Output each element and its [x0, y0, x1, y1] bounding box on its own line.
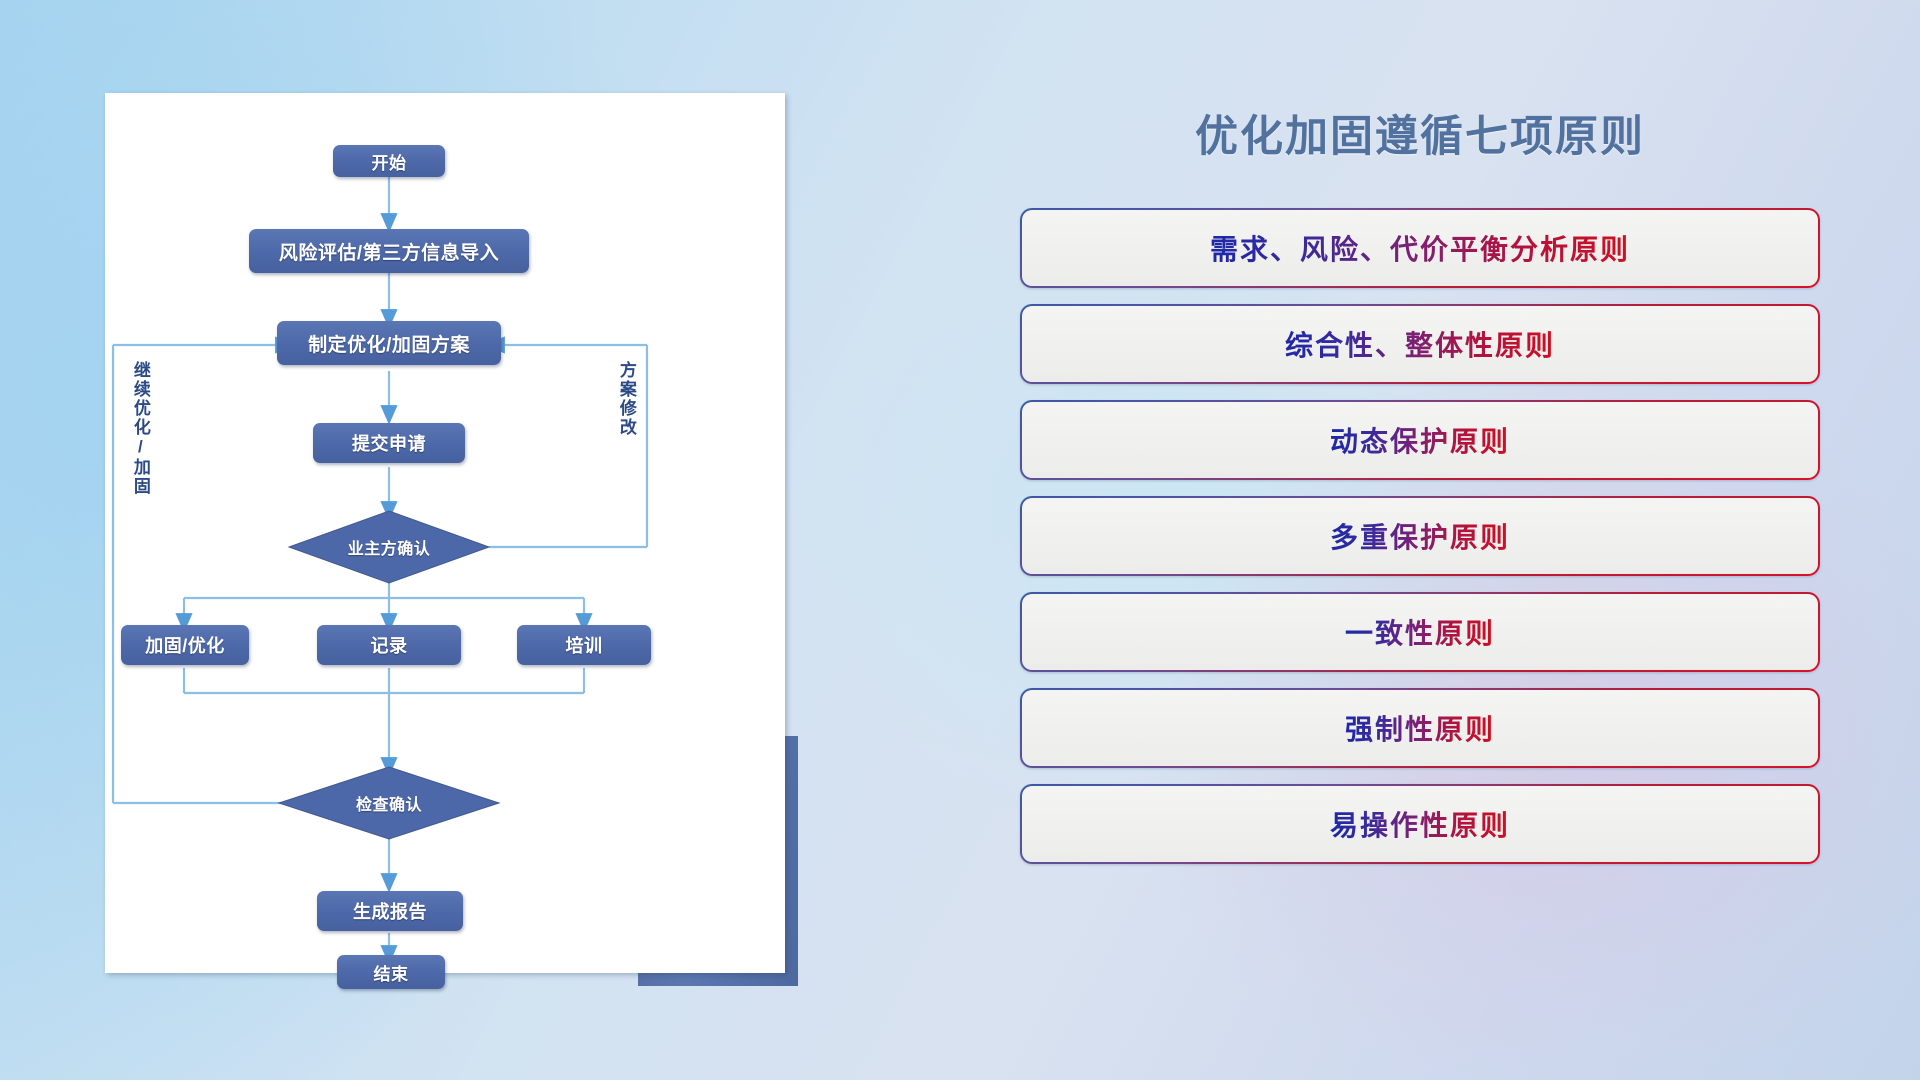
principle-label: 一致性原则 — [1345, 612, 1495, 652]
principle-label: 需求、风险、代价平衡分析原则 — [1210, 228, 1630, 268]
flow-node-risk-assessment-label: 风险评估/第三方信息导入 — [279, 238, 499, 265]
principle-card-inner: 强制性原则 — [1022, 690, 1818, 766]
principle-label: 动态保护原则 — [1330, 420, 1510, 460]
flow-edge-label-left-text: 继续优化/加固 — [131, 361, 150, 496]
principle-card[interactable]: 动态保护原则 — [1020, 400, 1820, 480]
principle-list: 需求、风险、代价平衡分析原则 综合性、整体性原则 动态保护原则 多重保护原则 — [1020, 208, 1820, 864]
flow-node-record-label: 记录 — [371, 632, 408, 658]
principle-card[interactable]: 一致性原则 — [1020, 592, 1820, 672]
flow-node-submit-label: 提交申请 — [352, 430, 426, 456]
principle-card-inner: 多重保护原则 — [1022, 498, 1818, 574]
flow-edge-label-right: 方案修改 — [617, 361, 635, 437]
slide-canvas: 开始 风险评估/第三方信息导入 制定优化/加固方案 提交申请 业主方确认 加固/… — [0, 0, 1920, 1080]
flow-node-end[interactable]: 结束 — [337, 955, 445, 989]
flow-node-end-label: 结束 — [374, 960, 409, 985]
flow-node-report-label: 生成报告 — [353, 898, 427, 924]
flow-node-report[interactable]: 生成报告 — [317, 891, 463, 931]
principle-card-inner: 易操作性原则 — [1022, 786, 1818, 862]
flow-node-inspection-label: 检查确认 — [356, 791, 422, 815]
principle-label: 多重保护原则 — [1330, 516, 1510, 556]
principle-card[interactable]: 强制性原则 — [1020, 688, 1820, 768]
page-title: 优化加固遵循七项原则 — [1020, 102, 1820, 164]
principle-label: 强制性原则 — [1345, 708, 1495, 748]
flow-node-harden[interactable]: 加固/优化 — [121, 625, 249, 665]
flow-node-owner-confirm[interactable]: 业主方确认 — [289, 511, 489, 583]
flow-node-start[interactable]: 开始 — [333, 145, 445, 177]
flow-node-record[interactable]: 记录 — [317, 625, 461, 665]
principles-panel: 优化加固遵循七项原则 需求、风险、代价平衡分析原则 综合性、整体性原则 动态保护… — [1020, 80, 1820, 1020]
flow-node-plan[interactable]: 制定优化/加固方案 — [277, 321, 501, 365]
flow-edge-label-left: 继续优化/加固 — [131, 361, 149, 496]
principle-card-inner: 需求、风险、代价平衡分析原则 — [1022, 210, 1818, 286]
flow-node-training-label: 培训 — [566, 632, 603, 658]
flowchart-panel: 开始 风险评估/第三方信息导入 制定优化/加固方案 提交申请 业主方确认 加固/… — [105, 93, 785, 973]
flow-node-start-label: 开始 — [372, 149, 407, 174]
flow-node-owner-confirm-label: 业主方确认 — [348, 535, 431, 559]
flow-node-training[interactable]: 培训 — [517, 625, 651, 665]
principle-card[interactable]: 综合性、整体性原则 — [1020, 304, 1820, 384]
principle-card[interactable]: 需求、风险、代价平衡分析原则 — [1020, 208, 1820, 288]
principle-label: 易操作性原则 — [1330, 804, 1510, 844]
flow-node-inspection[interactable]: 检查确认 — [279, 767, 499, 839]
flow-node-risk-assessment[interactable]: 风险评估/第三方信息导入 — [249, 229, 529, 273]
principle-card[interactable]: 易操作性原则 — [1020, 784, 1820, 864]
principle-card-inner: 一致性原则 — [1022, 594, 1818, 670]
flow-node-submit[interactable]: 提交申请 — [313, 423, 465, 463]
flow-node-harden-label: 加固/优化 — [145, 632, 225, 658]
principle-card[interactable]: 多重保护原则 — [1020, 496, 1820, 576]
principle-card-inner: 动态保护原则 — [1022, 402, 1818, 478]
principle-label: 综合性、整体性原则 — [1285, 324, 1555, 364]
flow-edge-label-right-text: 方案修改 — [617, 361, 636, 437]
principle-card-inner: 综合性、整体性原则 — [1022, 306, 1818, 382]
flow-node-plan-label: 制定优化/加固方案 — [308, 330, 470, 357]
